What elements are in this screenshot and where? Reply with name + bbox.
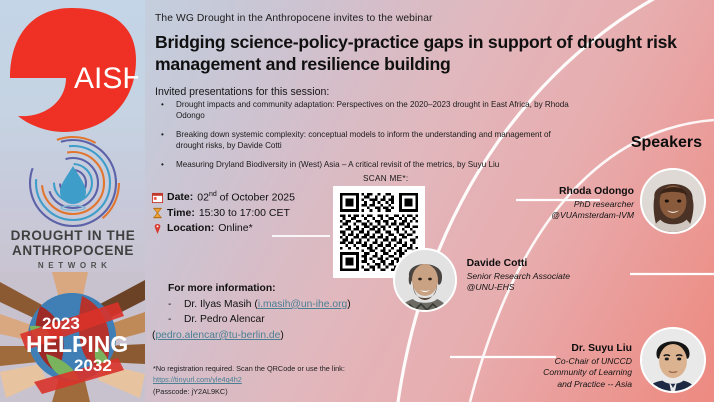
location-row: Location: Online* [152,221,295,236]
speaker-rhoda-odongo: Rhoda Odongo PhD researcher @VUAmsterdam… [551,186,634,222]
invited-presentations-heading: Invited presentations for this session: [155,86,329,98]
presentation-text: Measuring Dryland Biodiversity in (West)… [176,159,578,170]
speaker-role: Co-Chair of UNCCD Community of Learning … [543,356,632,390]
avatar-photo-davide [395,250,455,310]
hourglass-icon [152,207,163,219]
time-label: Time: [167,206,195,221]
email-link-masih[interactable]: i.masih@un-ihe.org [258,299,347,310]
list-item: • Measuring Dryland Biodiversity in (Wes… [158,159,578,170]
footnote-block: *No registration required. Scan the QRCo… [153,363,345,397]
bullet-icon: • [158,99,176,122]
webinar-poster: IAHS AISH DROUGHT IN THE ANTHROPOCENE N … [0,0,714,402]
event-details: Date: 02nd of October 2025 Time: 15:30 t… [152,190,295,236]
speaker-davide-cotti: Davide Cotti Senior Research Associate @… [467,258,570,294]
avatar [393,248,457,312]
presentation-text: Breaking down systemic complexity: conce… [176,129,578,152]
date-row: Date: 02nd of October 2025 [152,190,295,206]
list-item: • Breaking down systemic complexity: con… [158,129,578,152]
dash-marker: - [168,312,184,328]
registration-link[interactable]: https://tinyurl.com/yle4q4h2 [153,375,242,384]
passcode-line: (Passcode: jY2AL9KC) [153,386,345,397]
dash-marker: - [168,297,184,313]
helping-word: HELPING [26,331,128,357]
location-label: Location: [167,221,214,236]
iahs-logo: IAHS AISH [8,6,138,134]
speaker-role: Senior Research Associate @UNU-EHS [467,271,570,294]
speaker-name: Dr. Suyu Liu [543,343,632,354]
calendar-icon [152,192,163,204]
helping-bottom-year: 2032 [74,356,112,375]
presentation-text: Drought impacts and community adaptation… [176,99,578,122]
time-value: 15:30 to 17:00 CET [199,206,290,221]
invite-line: The WG Drought in the Anthropocene invit… [155,13,433,24]
contact-heading: For more information: [168,281,351,297]
bullet-icon: • [158,159,176,170]
avatar [640,168,706,234]
scan-me-label: SCAN ME*: [363,174,408,183]
dita-line3: N E T W O R K [38,261,108,270]
avatar-photo-rhoda [642,170,704,232]
email-link-alencar[interactable]: pedro.alencar@tu-berlin.de [155,330,280,341]
avatar [640,327,706,393]
drought-anthropocene-logo: DROUGHT IN THE ANTHROPOCENE N E T W O R … [10,135,136,275]
contact-person-1: - Dr. Ilyas Masih (i.masih@un-ihe.org) [168,297,351,313]
presentations-list: • Drought impacts and community adaptati… [158,99,578,177]
speaker-role: PhD researcher @VUAmsterdam-IVM [551,199,634,222]
list-item: • Drought impacts and community adaptati… [158,99,578,122]
page-title: Bridging science-policy-practice gaps in… [155,31,685,76]
contact-person-2-email-row: (pedro.alencar@tu-berlin.de) [152,328,351,344]
bullet-icon: • [158,129,176,152]
location-pin-icon [152,223,163,235]
helping-2023-2032-logo: 2023 HELPING 2032 [0,272,145,402]
contact-person-2: - Dr. Pedro Alencar [168,312,351,328]
contact-block: For more information: - Dr. Ilyas Masih … [168,281,351,344]
logo-rail: IAHS AISH DROUGHT IN THE ANTHROPOCENE N … [0,0,145,402]
dita-line2: ANTHROPOCENE [12,243,134,258]
speaker-suyu-liu: Dr. Suyu Liu Co-Chair of UNCCD Community… [543,343,632,390]
footnote-line-1: *No registration required. Scan the QRCo… [153,363,345,374]
speaker-name: Rhoda Odongo [551,186,634,197]
contact-person-1-text: Dr. Ilyas Masih (i.masih@un-ihe.org) [184,297,351,313]
avatar-photo-suyu [642,329,704,391]
location-value: Online* [218,221,252,236]
date-value: 02nd of October 2025 [197,190,295,206]
speaker-name: Davide Cotti [467,258,570,269]
aish-text: AISH [74,62,138,95]
dita-line1: DROUGHT IN THE [11,228,136,243]
paren-close: ) [280,330,283,341]
contact-person-2-name: Dr. Pedro Alencar [184,312,265,328]
date-label: Date: [167,190,193,205]
time-row: Time: 15:30 to 17:00 CET [152,206,295,221]
speakers-heading: Speakers [631,134,702,152]
